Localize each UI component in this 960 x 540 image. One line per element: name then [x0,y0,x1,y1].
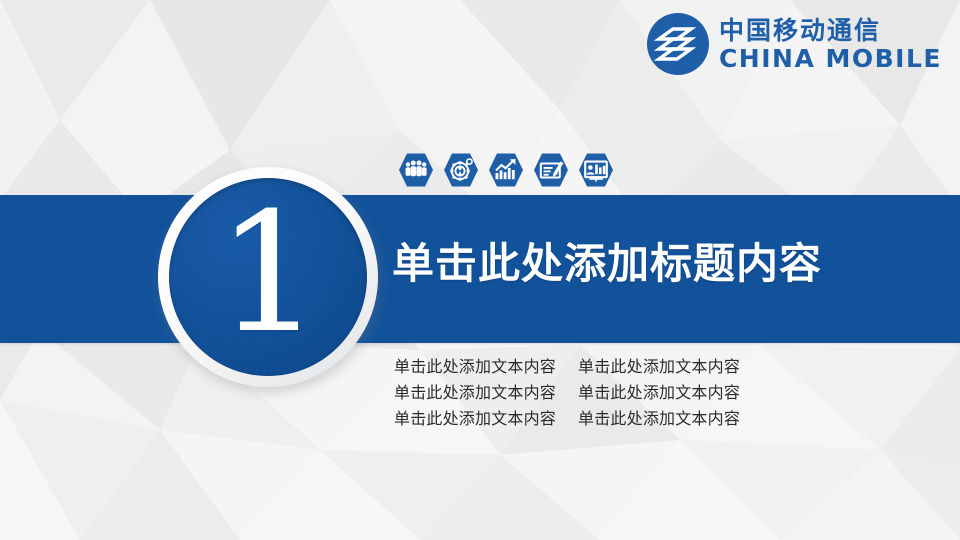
logo-chinese-text: 中国移动通信 [719,18,942,43]
logo-english-text: CHINA MOBILE [719,46,942,71]
body-text-item: 单击此处添加文本内容 [394,381,556,404]
body-text-grid: 单击此处添加文本内容 单击此处添加文本内容 单击此处添加文本内容 单击此处添加文… [394,355,740,431]
section-number-badge: 1 [158,167,378,387]
body-text-item: 单击此处添加文本内容 [578,381,740,404]
section-number-text: 1 [217,191,320,356]
presentation-slide: 中国移动通信 CHINA MOBILE 1 [0,0,960,540]
badge-disc: 1 [169,178,367,376]
gear-person-icon[interactable] [443,152,479,188]
growth-chart-icon[interactable] [488,152,524,188]
document-pen-icon[interactable] [533,152,569,188]
team-people-icon[interactable] [398,152,434,188]
china-mobile-logo-mark [646,12,710,76]
feature-icon-row [398,152,614,188]
body-text-item: 单击此处添加文本内容 [578,407,740,430]
body-text-item: 单击此处添加文本内容 [394,355,556,378]
presentation-chart-icon[interactable] [578,152,614,188]
body-text-item: 单击此处添加文本内容 [394,407,556,430]
slide-title: 单击此处添加标题内容 [392,241,822,287]
body-text-item: 单击此处添加文本内容 [578,355,740,378]
china-mobile-logo: 中国移动通信 CHINA MOBILE [646,12,942,76]
